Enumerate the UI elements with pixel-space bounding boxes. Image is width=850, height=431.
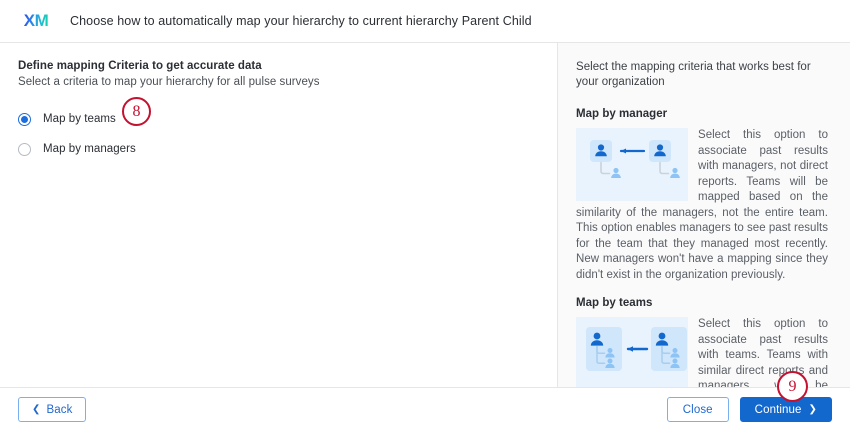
- logo-text: XM: [24, 11, 49, 31]
- close-button[interactable]: Close: [667, 397, 729, 422]
- map-by-manager-illustration-icon: [576, 128, 688, 201]
- map-by-teams-illustration-icon: [576, 317, 688, 387]
- radio-option-map-by-managers[interactable]: Map by managers: [18, 138, 537, 160]
- help-heading-map-by-teams: Map by teams: [576, 297, 828, 309]
- criteria-selection-panel: Define mapping Criteria to get accurate …: [0, 43, 558, 387]
- qualtrics-xm-logo-icon: XM: [21, 11, 51, 31]
- radio-option-map-by-teams[interactable]: Map by teams: [18, 108, 537, 130]
- back-button-label: Back: [46, 404, 72, 416]
- dialog-footer: ❮ Back Close Continue ❯: [0, 387, 850, 431]
- annotation-marker-9: 9: [777, 371, 808, 402]
- chevron-right-icon: ❯: [809, 405, 817, 415]
- criteria-subtitle: Select a criteria to map your hierarchy …: [18, 76, 537, 88]
- continue-button-label: Continue: [755, 404, 802, 416]
- close-button-label: Close: [683, 404, 713, 416]
- radio-label-map-by-managers: Map by managers: [43, 143, 136, 155]
- dialog-header: XM Choose how to automatically map your …: [0, 0, 850, 43]
- footer-actions: Close Continue ❯: [667, 397, 832, 422]
- mapping-criteria-radio-group: Map by teams Map by managers: [18, 108, 537, 160]
- page-title: Choose how to automatically map your hie…: [70, 14, 532, 28]
- back-button[interactable]: ❮ Back: [18, 397, 86, 422]
- radio-button-icon-unselected[interactable]: [18, 143, 31, 156]
- help-intro-text: Select the mapping criteria that works b…: [576, 60, 828, 90]
- dialog-body: Define mapping Criteria to get accurate …: [0, 43, 850, 387]
- radio-label-map-by-teams: Map by teams: [43, 113, 116, 125]
- radio-dot: [21, 116, 28, 123]
- radio-button-icon-selected[interactable]: [18, 113, 31, 126]
- mapping-criteria-dialog: XM Choose how to automatically map your …: [0, 0, 850, 431]
- help-heading-map-by-manager: Map by manager: [576, 108, 828, 120]
- chevron-left-icon: ❮: [32, 405, 40, 415]
- annotation-marker-8: 8: [122, 97, 151, 126]
- criteria-title: Define mapping Criteria to get accurate …: [18, 60, 537, 72]
- help-section-map-by-manager: Map by manager: [576, 108, 828, 283]
- mapping-help-panel: Select the mapping criteria that works b…: [558, 43, 850, 387]
